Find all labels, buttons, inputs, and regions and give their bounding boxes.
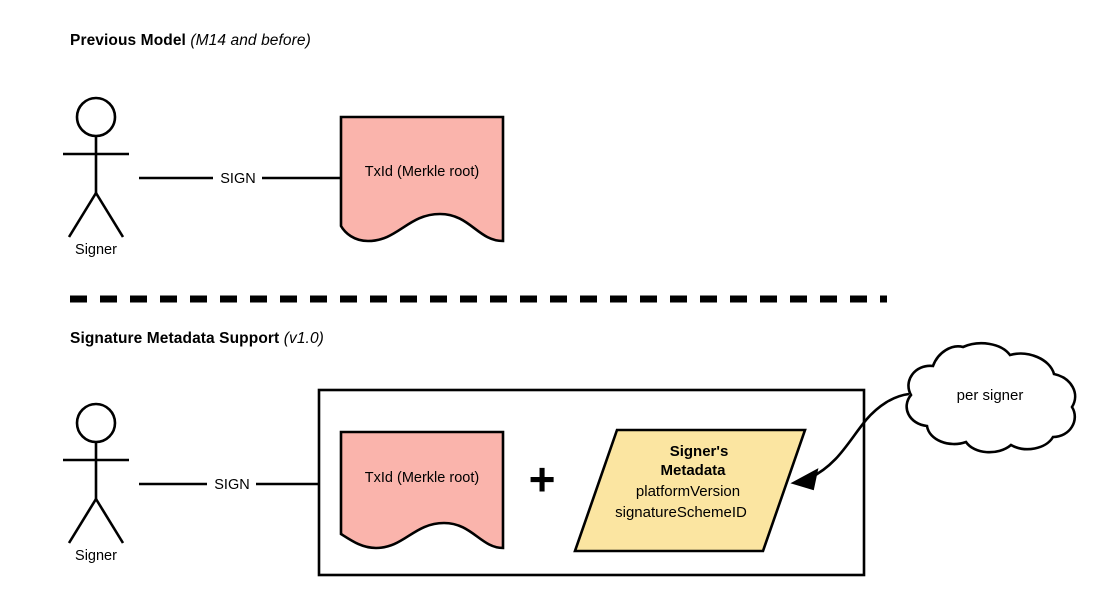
sign-label-metadata: SIGN bbox=[214, 477, 249, 493]
actor-head-icon bbox=[77, 98, 115, 136]
sign-label-previous: SIGN bbox=[220, 171, 255, 187]
actor-head-icon bbox=[77, 404, 115, 442]
cloud-label: per signer bbox=[957, 387, 1024, 404]
diagram-canvas: Signer SIGN TxId (Merkle root) Signer SI… bbox=[0, 0, 1098, 609]
document-label-previous: TxId (Merkle root) bbox=[365, 164, 479, 180]
actor-signer-metadata bbox=[63, 404, 129, 543]
actor-leg-left bbox=[69, 193, 96, 237]
document-label-metadata: TxId (Merkle root) bbox=[365, 470, 479, 486]
metadata-field-signature-scheme-id: signatureSchemeID bbox=[615, 504, 747, 521]
metadata-title-line1: Signer's bbox=[670, 443, 729, 460]
metadata-field-platform-version: platformVersion bbox=[636, 483, 740, 500]
metadata-title-line2: Metadata bbox=[660, 462, 726, 479]
signature-metadata-group: Signer SIGN TxId (Merkle root) + Signer'… bbox=[63, 343, 1075, 575]
actor-label-metadata: Signer bbox=[75, 548, 117, 564]
previous-model-group: Signer SIGN TxId (Merkle root) bbox=[63, 98, 503, 258]
actor-leg-right bbox=[96, 193, 123, 237]
actor-leg-right bbox=[96, 499, 123, 543]
actor-leg-left bbox=[69, 499, 96, 543]
sign-connector-previous: SIGN bbox=[139, 171, 340, 187]
actor-label-previous: Signer bbox=[75, 242, 117, 258]
actor-signer-previous bbox=[63, 98, 129, 237]
sign-connector-metadata: SIGN bbox=[139, 477, 319, 493]
plus-operator: + bbox=[529, 453, 556, 505]
